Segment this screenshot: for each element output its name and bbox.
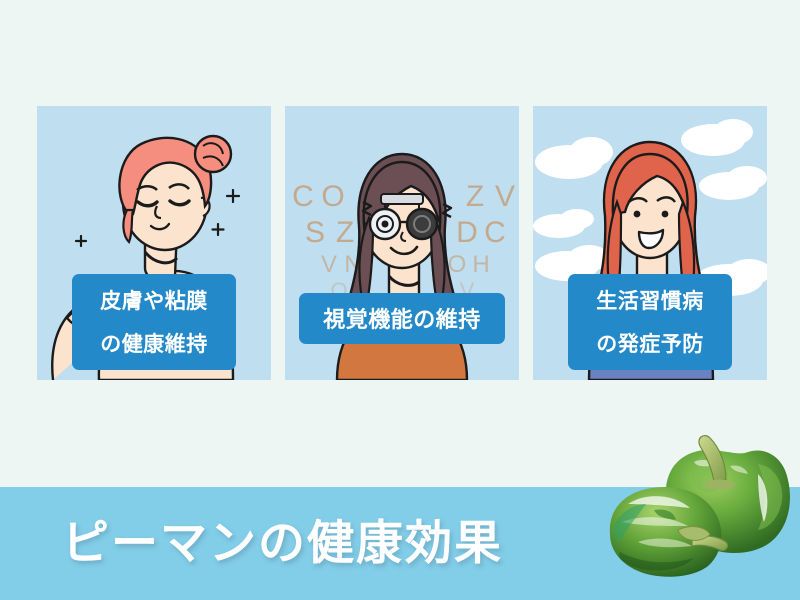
card-label-skin: 皮膚や粘膜 の健康維持 [72, 274, 236, 370]
benefit-card-vision[interactable]: CO ZV SZ DC VN OH OV [285, 106, 519, 380]
card-label-line: の健康維持 [72, 328, 236, 358]
card-label-line: 生活習慣病 [568, 285, 732, 315]
svg-text:C: C [292, 180, 314, 213]
poster-canvas: 皮膚や粘膜 の健康維持 CO ZV SZ DC VN OH [0, 0, 800, 600]
svg-text:O: O [448, 251, 467, 278]
svg-text:S: S [305, 216, 325, 249]
card-label-line: 皮膚や粘膜 [72, 285, 236, 315]
card-label-lifestyle: 生活習慣病 の発症予防 [568, 274, 732, 370]
svg-text:D: D [456, 216, 478, 249]
banner-title: ピーマンの健康効果 [62, 504, 503, 573]
svg-text:O: O [321, 180, 344, 213]
benefit-card-lifestyle[interactable]: 生活習慣病 の発症予防 [533, 106, 767, 380]
card-label-line: の発症予防 [568, 328, 732, 358]
svg-text:Z: Z [336, 216, 354, 249]
svg-text:V: V [495, 180, 515, 213]
benefit-card-group: 皮膚や粘膜 の健康維持 CO ZV SZ DC VN OH [37, 106, 767, 380]
card-label-line: 視覚機能の維持 [299, 302, 505, 334]
svg-text:Z: Z [466, 180, 484, 213]
svg-text:V: V [321, 251, 337, 278]
svg-text:C: C [484, 216, 506, 249]
benefit-card-skin[interactable]: 皮膚や粘膜 の健康維持 [37, 106, 271, 380]
card-label-vision: 視覚機能の維持 [299, 293, 505, 344]
svg-text:H: H [472, 251, 489, 278]
green-bell-peppers-image [608, 430, 800, 578]
